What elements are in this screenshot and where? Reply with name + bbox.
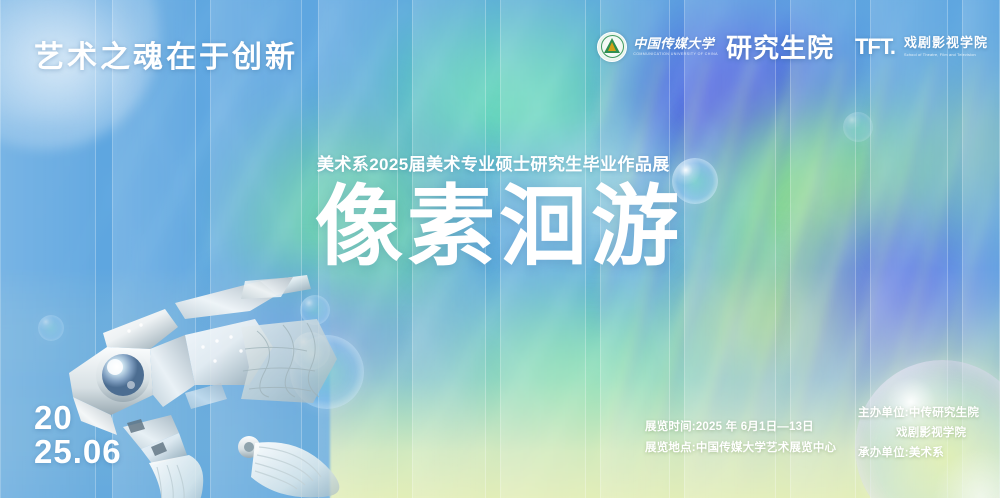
exhibition-main-title: 像素洄游 xyxy=(315,183,683,271)
host-line-1: 主办单位:中传研究生院 xyxy=(858,403,979,423)
organizer-line: 承办单位:美术系 xyxy=(858,443,979,463)
bubble-upper-right xyxy=(843,112,873,142)
poster-canvas: 艺术之魂在于创新 中国传媒大学 COMMUNICATION UNIVERSITY… xyxy=(0,0,1000,498)
graduate-school-label: 研究生院 xyxy=(726,28,834,65)
exhibition-place: 展览地点:中国传媒大学艺术展览中心 xyxy=(645,438,836,459)
cuc-logo: 中国传媒大学 COMMUNICATION UNIVERSITY OF CHINA… xyxy=(597,28,834,65)
host-line-2: 戏剧影视学院 xyxy=(858,423,979,443)
cuc-name-block: 中国传媒大学 COMMUNICATION UNIVERSITY OF CHINA xyxy=(633,37,718,57)
logo-divider xyxy=(844,34,845,60)
cuc-seal-icon xyxy=(597,32,627,62)
tft-name-en: School of Theatre, Film and Television xyxy=(904,53,988,57)
slogan-text: 艺术之魂在于创新 xyxy=(34,32,298,76)
tft-mark-icon: TFT. xyxy=(855,34,895,60)
logo-group: 中国传媒大学 COMMUNICATION UNIVERSITY OF CHINA… xyxy=(597,28,988,65)
tft-logo: TFT. 戏剧影视学院 School of Theatre, Film and … xyxy=(855,34,988,60)
date-block: 20 25.06 xyxy=(34,402,122,469)
organizer-info-block: 主办单位:中传研究生院 戏剧影视学院 承办单位:美术系 xyxy=(858,403,979,463)
exhibition-info-block: 展览时间:2025 年 6月1日—13日 展览地点:中国传媒大学艺术展览中心 xyxy=(645,417,836,460)
tft-name-block: 戏剧影视学院 School of Theatre, Film and Telev… xyxy=(904,36,988,57)
exhibition-subtitle: 美术系2025届美术专业硕士研究生毕业作品展 xyxy=(317,150,670,175)
cuc-name-en: COMMUNICATION UNIVERSITY OF CHINA xyxy=(633,53,718,57)
exhibition-time: 展览时间:2025 年 6月1日—13日 xyxy=(645,417,836,438)
tft-name-cn: 戏剧影视学院 xyxy=(904,36,988,50)
cuc-name-cn: 中国传媒大学 xyxy=(633,37,718,50)
date-year-prefix: 20 xyxy=(34,402,122,434)
date-year-month: 25.06 xyxy=(34,436,122,468)
